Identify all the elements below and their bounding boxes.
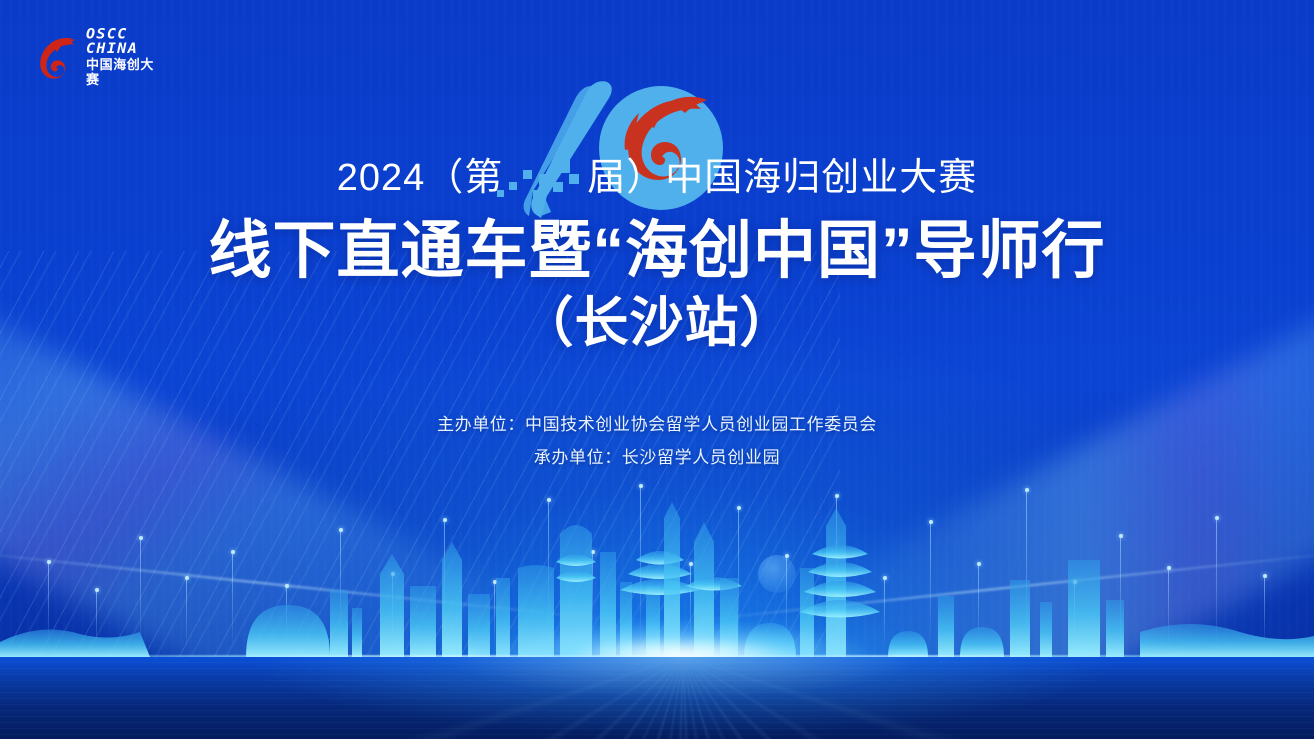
title-year-after: 届）中国海归创业大赛 bbox=[587, 157, 977, 199]
emblem-row bbox=[0, 0, 1314, 150]
organizer-host: 主办单位：中国技术创业协会留学人员创业园工作委员会 bbox=[0, 408, 1314, 441]
event-poster: OSCC CHINA 中国海创大赛 bbox=[0, 0, 1314, 739]
perspective-grid-floor-icon bbox=[0, 657, 1314, 739]
page-subtitle: （长沙站） bbox=[0, 292, 1314, 354]
moon-circle-icon bbox=[758, 555, 796, 593]
organizer-coorganizer: 承办单位：长沙留学人员创业园 bbox=[0, 441, 1314, 474]
page-title: 线下直通车暨“海创中国”导师行 bbox=[0, 216, 1314, 287]
title-year-before: 2024（第 bbox=[337, 157, 504, 199]
title-year-line: 2024（第届）中国海归创业大赛 bbox=[0, 156, 1314, 202]
floor-grid-lines bbox=[0, 657, 1314, 739]
poster-content: 2024（第届）中国海归创业大赛 线下直通车暨“海创中国”导师行 （长沙站） 主… bbox=[0, 0, 1314, 475]
organizer-block: 主办单位：中国技术创业协会留学人员创业园工作委员会 承办单位：长沙留学人员创业园 bbox=[0, 408, 1314, 474]
